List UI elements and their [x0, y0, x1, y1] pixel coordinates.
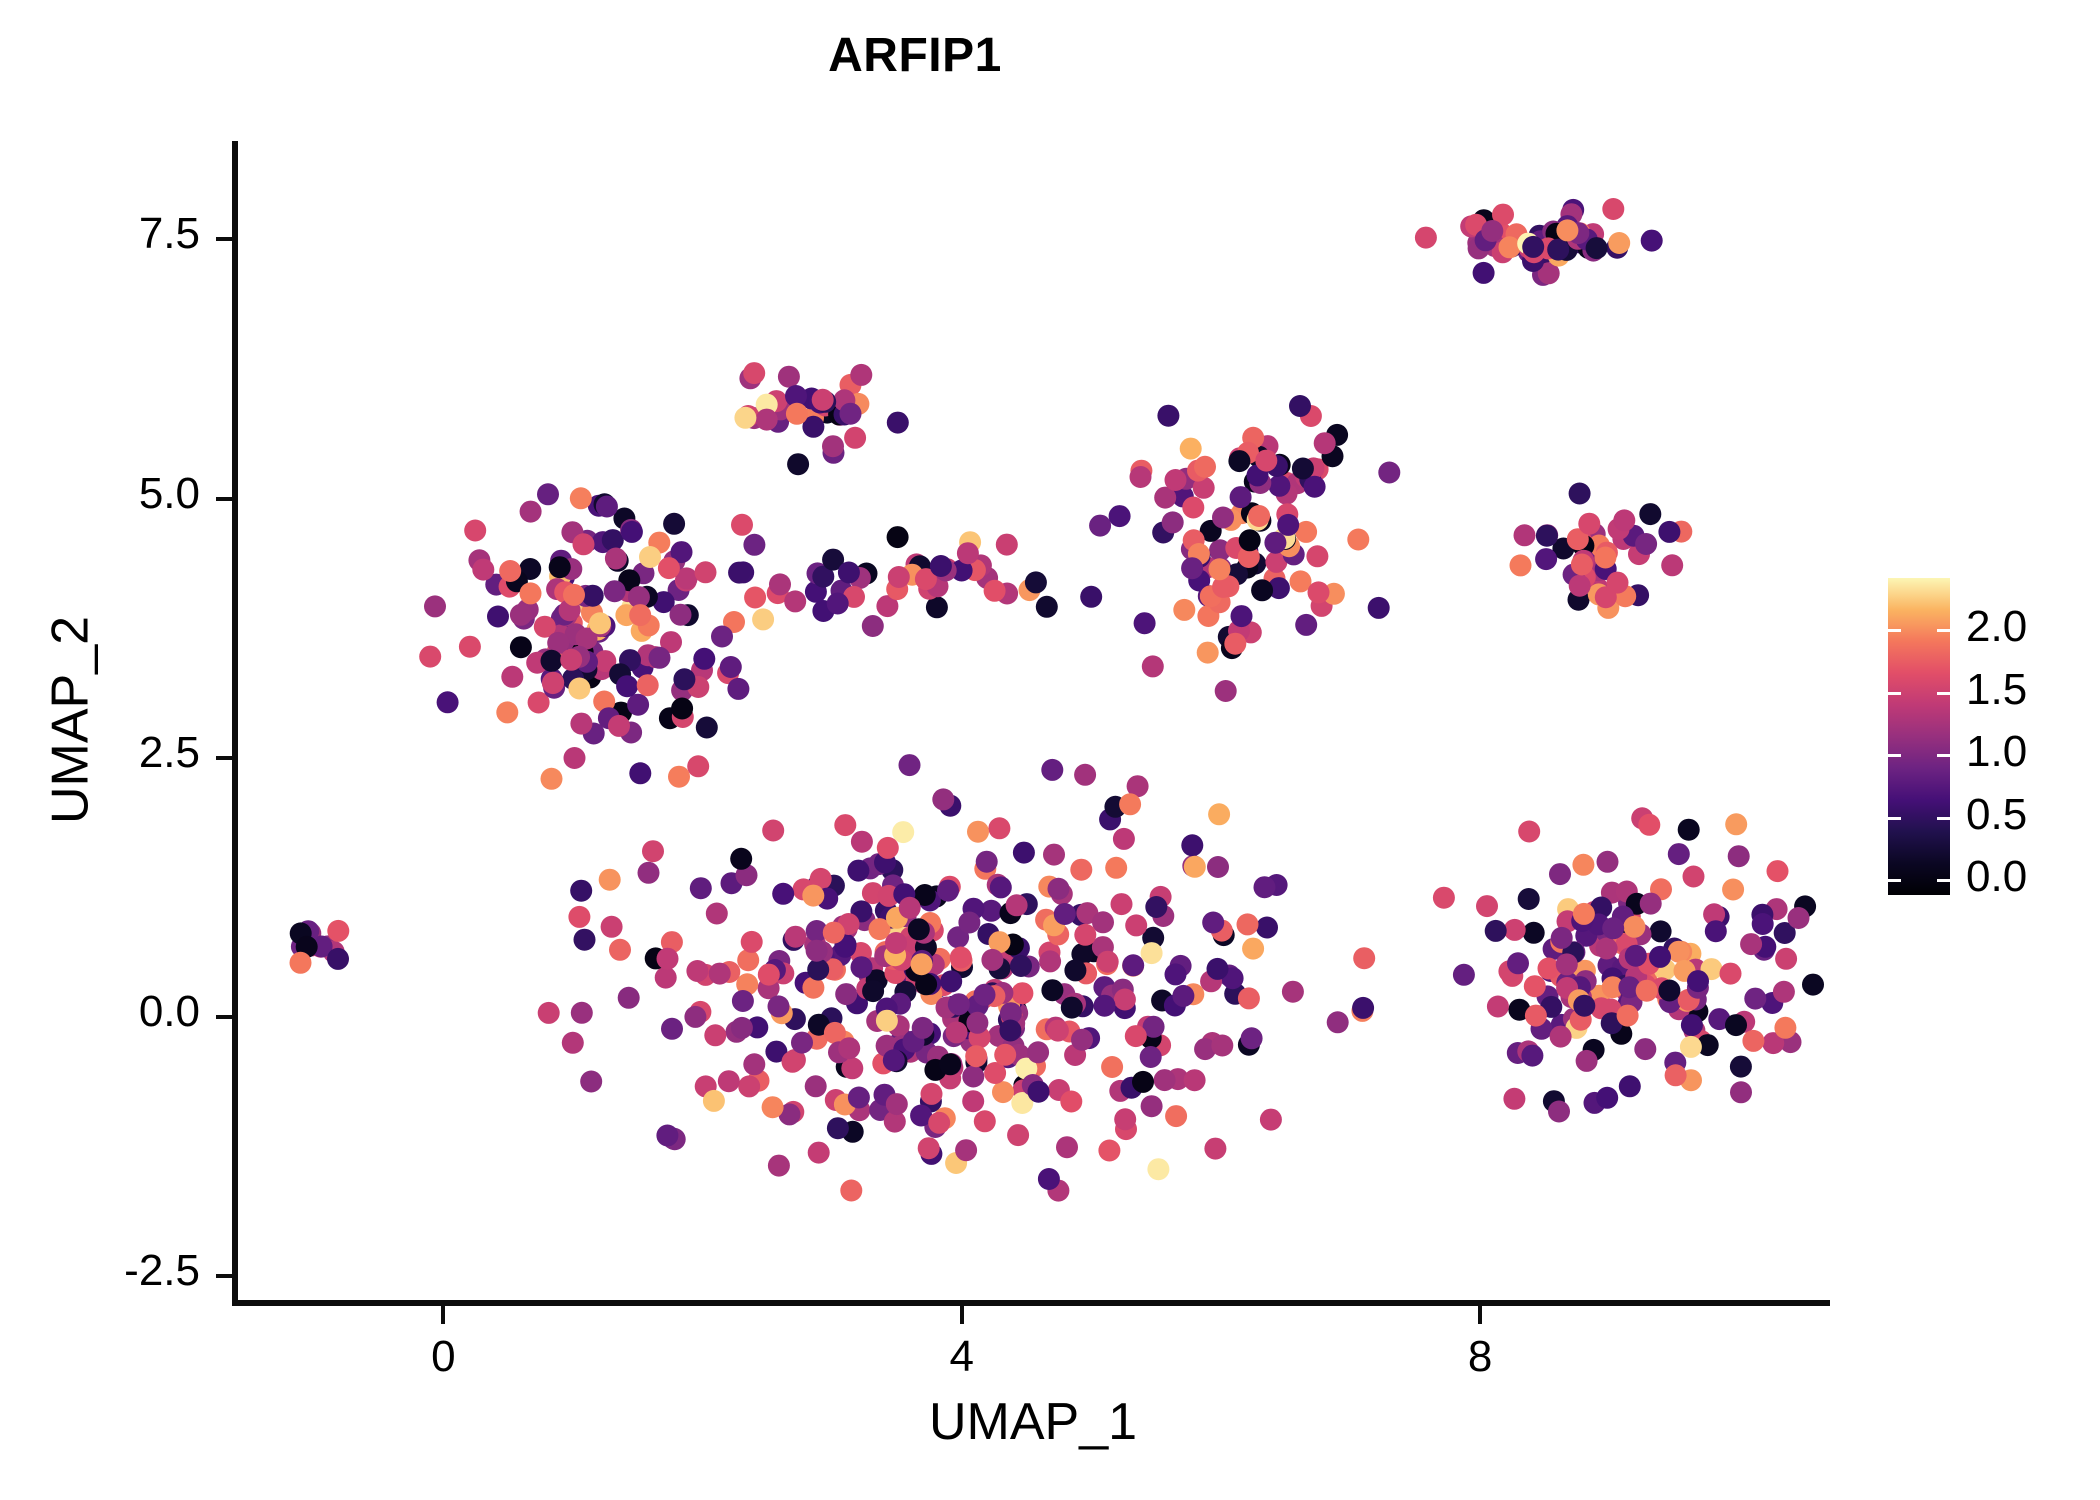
- scatter-point: [1680, 1036, 1702, 1058]
- scatter-point: [658, 557, 680, 579]
- scatter-point: [851, 831, 873, 853]
- scatter-point: [1720, 963, 1742, 985]
- scatter-point: [1499, 236, 1521, 258]
- scatter-point: [822, 435, 844, 457]
- scatter-point: [668, 766, 690, 788]
- scatter-point: [542, 672, 564, 694]
- scatter-point: [827, 1117, 849, 1139]
- scatter-point: [883, 1049, 905, 1071]
- scatter-point: [541, 650, 563, 672]
- scatter-point: [1197, 642, 1219, 664]
- scatter-point: [1080, 586, 1102, 608]
- scatter-point: [718, 1070, 740, 1092]
- scatter-point: [605, 548, 627, 570]
- scatter-point: [1114, 1108, 1136, 1130]
- scatter-point: [704, 1024, 726, 1046]
- scatter-point: [1181, 557, 1203, 579]
- scatter-point: [1182, 497, 1204, 519]
- x-tick-mark: [960, 1306, 964, 1324]
- scatter-point: [1481, 220, 1503, 242]
- scatter-point: [999, 1020, 1021, 1042]
- scatter-point: [1248, 505, 1270, 527]
- scatter-point: [1194, 456, 1216, 478]
- scatter-point: [1635, 533, 1657, 555]
- scatter-point: [744, 587, 766, 609]
- scatter-point: [1215, 680, 1237, 702]
- scatter-point: [1594, 547, 1616, 569]
- scatter-point: [703, 1090, 725, 1112]
- scatter-point: [1041, 759, 1063, 781]
- scatter-point: [621, 521, 643, 543]
- plot-panel: [236, 141, 1830, 1302]
- scatter-point: [877, 837, 899, 859]
- scatter-point: [1097, 951, 1119, 973]
- scatter-point: [1640, 893, 1662, 915]
- scatter-point: [1725, 1014, 1747, 1036]
- scatter-point: [538, 1002, 560, 1024]
- y-tick-mark: [216, 756, 234, 760]
- scatter-point: [1036, 596, 1058, 618]
- scatter-point: [1550, 1026, 1572, 1048]
- scatter-point: [1625, 945, 1647, 967]
- scatter-point: [1347, 529, 1369, 551]
- scatter-point: [787, 453, 809, 475]
- scatter-point: [1224, 633, 1246, 655]
- scatter-point: [711, 626, 733, 648]
- scatter-point: [687, 755, 709, 777]
- scatter-point: [1119, 793, 1141, 815]
- scatter-point: [946, 1021, 968, 1043]
- scatter-point: [574, 929, 596, 951]
- scatter-point: [848, 1087, 870, 1109]
- scatter-point: [1485, 920, 1507, 942]
- scatter-point: [1254, 876, 1276, 898]
- scatter-point: [844, 427, 866, 449]
- scatter-point: [1180, 438, 1202, 460]
- scatter-point: [1038, 1168, 1060, 1190]
- scatter-point: [984, 580, 1006, 602]
- scatter-point: [1742, 1030, 1764, 1052]
- scatter-point: [1047, 1020, 1069, 1042]
- scatter-point: [1773, 981, 1795, 1003]
- scatter-point: [1705, 920, 1727, 942]
- scatter-point: [958, 912, 980, 934]
- scatter-point: [618, 987, 640, 1009]
- scatter-point: [966, 1012, 988, 1034]
- scatter-point: [756, 409, 778, 431]
- scatter-point: [996, 534, 1018, 556]
- scatter-point: [1237, 913, 1259, 935]
- scatter-point: [823, 922, 845, 944]
- scatter-point: [1071, 1029, 1093, 1051]
- scatter-point: [730, 848, 752, 870]
- scatter-point: [1576, 1050, 1598, 1072]
- scatter-point: [1140, 1046, 1162, 1068]
- scatter-point: [1039, 950, 1061, 972]
- scatter-point: [741, 931, 763, 953]
- scatter-point: [1098, 1140, 1120, 1162]
- scatter-point: [1074, 764, 1096, 786]
- scatter-point: [1306, 545, 1328, 567]
- scatter-point: [784, 590, 806, 612]
- scatter-point: [1061, 997, 1083, 1019]
- scatter-point: [1573, 995, 1595, 1017]
- scatter-point: [1212, 507, 1234, 529]
- scatter-point: [563, 584, 585, 606]
- scatter-point: [1525, 1005, 1547, 1027]
- scatter-point: [1295, 614, 1317, 636]
- scatter-point: [974, 984, 996, 1006]
- scatter-point: [706, 903, 728, 925]
- scatter-point: [1113, 828, 1135, 850]
- scatter-point: [1173, 599, 1195, 621]
- scatter-point: [802, 885, 824, 907]
- scatter-point: [886, 1093, 908, 1115]
- scatter-point: [1314, 432, 1336, 454]
- scatter-point: [589, 612, 611, 634]
- scatter-point: [627, 694, 649, 716]
- scatter-point: [290, 952, 312, 974]
- scatter-point: [962, 1066, 984, 1088]
- scatter-point: [1514, 524, 1536, 546]
- scatter-point: [1668, 843, 1690, 865]
- colorbar-tick-mark: [1937, 879, 1950, 882]
- scatter-point: [1105, 857, 1127, 879]
- scatter-point: [649, 647, 671, 669]
- scatter-point: [1602, 198, 1624, 220]
- scatter-point: [327, 948, 349, 970]
- scatter-point: [908, 918, 930, 940]
- scatter-point: [1027, 1041, 1049, 1063]
- scatter-point: [510, 604, 532, 626]
- scatter-point: [1619, 1075, 1641, 1097]
- scatter-point: [459, 636, 481, 658]
- scatter-point: [437, 691, 459, 713]
- scatter-point: [520, 582, 542, 604]
- scatter-point: [1638, 814, 1660, 836]
- scatter-point: [1141, 1095, 1163, 1117]
- scatter-point: [937, 880, 959, 902]
- scatter-point: [1668, 941, 1690, 963]
- scatter-point: [1728, 845, 1750, 867]
- scatter-point: [671, 698, 693, 720]
- scatter-point: [1125, 914, 1147, 936]
- scatter-point: [1569, 483, 1591, 505]
- scatter-point: [728, 562, 750, 584]
- scatter-point: [957, 542, 979, 564]
- scatter-point: [1282, 981, 1304, 1003]
- scatter-point: [1802, 974, 1824, 996]
- scatter-point: [827, 593, 849, 615]
- scatter-point: [948, 993, 970, 1015]
- scatter-point: [1524, 975, 1546, 997]
- scatter-point: [1092, 911, 1114, 933]
- scatter-point: [1504, 919, 1526, 941]
- scatter-point: [1277, 514, 1299, 536]
- scatter-point: [1228, 450, 1250, 472]
- scatter-point: [573, 533, 595, 555]
- scatter-point: [778, 366, 800, 388]
- scatter-point: [496, 701, 518, 723]
- scatter-point: [1518, 888, 1540, 910]
- scatter-point: [1650, 920, 1672, 942]
- scatter-point: [1114, 989, 1136, 1011]
- scatter-point: [1109, 505, 1131, 527]
- scatter-point: [743, 534, 765, 556]
- scatter-point: [1569, 575, 1591, 597]
- colorbar-tick-label: 2.0: [1966, 602, 2027, 652]
- scatter-point: [1006, 894, 1028, 916]
- scatter-point: [932, 788, 954, 810]
- scatter-point: [629, 604, 651, 626]
- scatter-point: [1608, 232, 1630, 254]
- scatter-point: [928, 1112, 950, 1134]
- scatter-point: [850, 364, 872, 386]
- scatter-point: [1154, 1069, 1176, 1091]
- page-title: ARFIP1: [0, 28, 1830, 83]
- scatter-point: [782, 1051, 804, 1073]
- scatter-point: [537, 483, 559, 505]
- scatter-point: [992, 1081, 1014, 1103]
- scatter-point: [656, 1125, 678, 1147]
- scatter-point: [1304, 476, 1326, 498]
- scatter-point: [499, 560, 521, 582]
- scatter-point: [967, 821, 989, 843]
- scatter-point: [1572, 854, 1594, 876]
- colorbar-tick-label: 0.5: [1966, 790, 2027, 840]
- x-tick-label: 0: [343, 1332, 543, 1382]
- scatter-point: [1641, 230, 1663, 252]
- scatter-point: [616, 675, 638, 697]
- scatter-point: [1207, 856, 1229, 878]
- scatter-point: [709, 963, 731, 985]
- scatter-point: [1433, 887, 1455, 909]
- scatter-point: [1025, 571, 1047, 593]
- scatter-point: [737, 949, 759, 971]
- scatter-point: [1378, 462, 1400, 484]
- scatter-point: [834, 814, 856, 836]
- scatter-point: [838, 1037, 860, 1059]
- scatter-point: [1165, 1105, 1187, 1127]
- scatter-point: [1132, 1071, 1154, 1093]
- scatter-point: [670, 604, 692, 626]
- scatter-point: [955, 1139, 977, 1161]
- scatter-point: [1774, 1017, 1796, 1039]
- scatter-point: [1617, 1005, 1639, 1027]
- scatter-point: [851, 956, 873, 978]
- scatter-point: [693, 648, 715, 670]
- color-legend: 2.01.51.00.50.0: [1888, 578, 2078, 908]
- scatter-point: [1054, 903, 1076, 925]
- scatter-point: [1775, 948, 1797, 970]
- y-tick-mark: [216, 237, 234, 241]
- scatter-point: [570, 713, 592, 735]
- scatter-point: [1573, 903, 1595, 925]
- scatter-point: [1538, 958, 1560, 980]
- scatter-point: [734, 407, 756, 429]
- scatter-point: [899, 754, 921, 776]
- scatter-point: [663, 513, 685, 535]
- scatter-point: [1788, 907, 1810, 929]
- scatter-point: [1125, 1025, 1147, 1047]
- scatter-point: [911, 953, 933, 975]
- scatter-point: [695, 561, 717, 583]
- scatter-point: [608, 715, 630, 737]
- scatter-point: [1476, 895, 1498, 917]
- scatter-point: [1255, 450, 1277, 472]
- scatter-point: [918, 1137, 940, 1159]
- scatter-point: [1141, 942, 1163, 964]
- scatter-point: [840, 403, 862, 425]
- scatter-point: [862, 980, 884, 1002]
- scatter-point: [568, 678, 590, 700]
- scatter-point: [596, 496, 618, 518]
- colorbar: [1888, 578, 1950, 895]
- scatter-point: [1722, 879, 1744, 901]
- y-tick-mark: [216, 1015, 234, 1019]
- scatter-point: [1523, 922, 1545, 944]
- scatter-point: [1473, 262, 1495, 284]
- scatter-point: [642, 840, 664, 862]
- scatter-point: [1111, 893, 1133, 915]
- scatter-point: [419, 646, 441, 668]
- scatter-point: [568, 906, 590, 928]
- scatter-point: [743, 362, 765, 384]
- scatter-point: [1230, 486, 1252, 508]
- scatter-point: [806, 940, 828, 962]
- scatter-point: [791, 1032, 813, 1054]
- scatter-point: [655, 967, 677, 989]
- colorbar-tick-mark: [1888, 817, 1901, 820]
- scatter-point: [1767, 860, 1789, 882]
- scatter-point: [1238, 987, 1260, 1009]
- scatter-point: [541, 768, 563, 790]
- scatter-point: [1597, 851, 1619, 873]
- scatter-point: [1172, 985, 1194, 1007]
- scatter-point: [582, 585, 604, 607]
- scatter-point: [988, 817, 1010, 839]
- scatter-point: [1510, 554, 1532, 576]
- scatter-point: [981, 949, 1003, 971]
- scatter-point: [1678, 819, 1700, 841]
- scatter-point: [1142, 655, 1164, 677]
- scatter-point: [768, 1155, 790, 1177]
- scatter-point: [950, 947, 972, 969]
- scatter-point: [1157, 405, 1179, 427]
- scatter-point: [847, 860, 869, 882]
- scatter-point: [1056, 1136, 1078, 1158]
- scatter-point: [758, 964, 780, 986]
- scatter-point: [876, 1010, 898, 1032]
- scatter-point: [1208, 803, 1230, 825]
- scatter-point: [1687, 970, 1709, 992]
- scatter-point: [732, 990, 754, 1012]
- scatter-point: [684, 1006, 706, 1028]
- scatter-point: [785, 926, 807, 948]
- scatter-point: [1308, 581, 1330, 603]
- colorbar-tick-mark: [1937, 817, 1950, 820]
- scatter-point: [571, 1002, 593, 1024]
- scatter-point: [738, 1075, 760, 1097]
- scatter-point: [1289, 395, 1311, 417]
- scatter-point: [1070, 859, 1092, 881]
- scatter-point: [1522, 236, 1544, 258]
- scatter-point: [1549, 863, 1571, 885]
- scatter-point: [580, 1071, 602, 1093]
- colorbar-tick-mark: [1888, 692, 1901, 695]
- x-axis-title: UMAP_1: [236, 1392, 1830, 1452]
- scatter-point: [1353, 947, 1375, 969]
- colorbar-tick-mark: [1888, 629, 1901, 632]
- scatter-point: [892, 821, 914, 843]
- scatter-point: [1571, 554, 1593, 576]
- scatter-point: [1586, 237, 1608, 259]
- scatter-point: [1547, 239, 1569, 261]
- scatter-point: [510, 636, 532, 658]
- scatter-point: [629, 762, 651, 784]
- scatter-point: [1028, 1081, 1050, 1103]
- scatter-point: [1578, 513, 1600, 535]
- scatter-point: [657, 948, 679, 970]
- scatter-point: [862, 615, 884, 637]
- colorbar-tick-mark: [1888, 879, 1901, 882]
- scatter-point: [1752, 913, 1774, 935]
- scatter-point: [1649, 946, 1671, 968]
- scatter-point: [1007, 1124, 1029, 1146]
- scatter-point: [1639, 503, 1661, 525]
- scatter-point: [1209, 558, 1231, 580]
- x-tick-label: 8: [1380, 1332, 1580, 1382]
- colorbar-tick-mark: [1937, 754, 1950, 757]
- scatter-point: [1089, 515, 1111, 537]
- scatter-point: [921, 1083, 943, 1105]
- scatter-point: [930, 555, 952, 577]
- scatter-point: [686, 960, 708, 982]
- scatter-point: [1551, 927, 1573, 949]
- scatter-point: [1147, 1158, 1169, 1180]
- scatter-point: [1658, 980, 1680, 1002]
- scatter-point: [1596, 1087, 1618, 1109]
- scatter-point: [812, 389, 834, 411]
- scatter-point: [564, 747, 586, 769]
- scatter-point: [1352, 997, 1374, 1019]
- scatter-point: [1239, 529, 1261, 551]
- scatter-point: [974, 1110, 996, 1132]
- scatter-point: [1181, 834, 1203, 856]
- scatter-point: [1074, 924, 1096, 946]
- scatter-point: [1130, 466, 1152, 488]
- scatter-point: [994, 1044, 1016, 1066]
- scatter-point: [1613, 509, 1635, 531]
- scatter-point: [639, 546, 661, 568]
- scatter-point: [696, 717, 718, 739]
- scatter-point: [1211, 1035, 1233, 1057]
- scatter-point: [637, 674, 659, 696]
- scatter-point: [1165, 469, 1187, 491]
- y-tick-mark: [216, 497, 234, 501]
- scatter-point: [570, 880, 592, 902]
- scatter-point: [520, 501, 542, 523]
- scatter-point: [1048, 878, 1070, 900]
- scatter-point: [1518, 821, 1540, 843]
- scatter-point: [1556, 953, 1578, 975]
- scatter-point: [638, 862, 660, 884]
- colorbar-tick-mark: [1937, 629, 1950, 632]
- scatter-point: [562, 1032, 584, 1054]
- scatter-point: [1204, 1138, 1226, 1160]
- scatter-point: [887, 526, 909, 548]
- scatter-point: [976, 851, 998, 873]
